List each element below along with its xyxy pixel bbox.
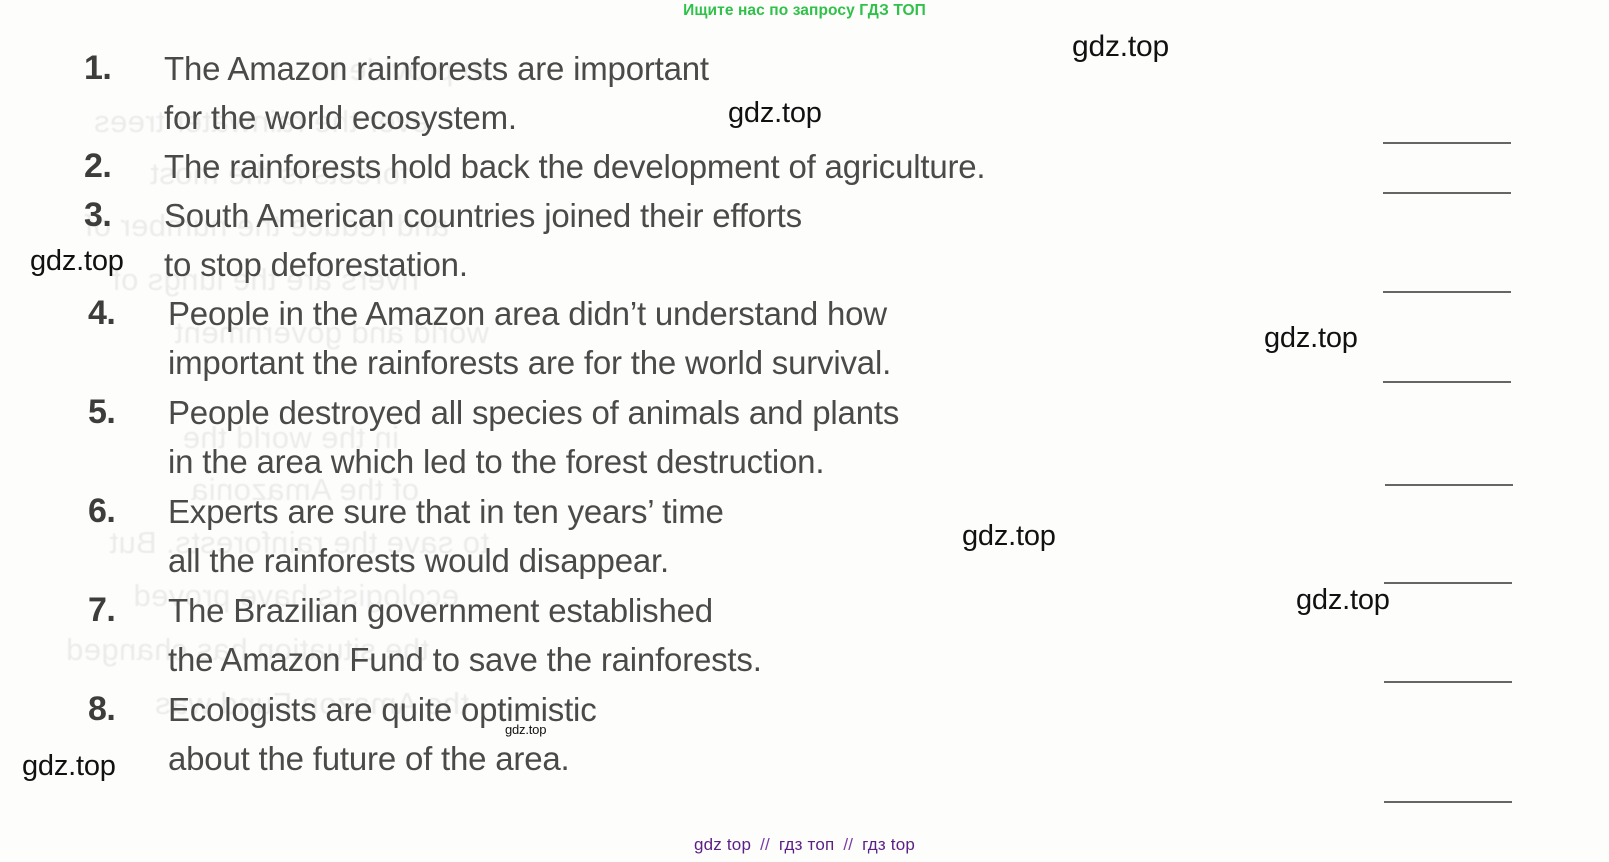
list-item-number: 8.: [76, 685, 168, 734]
bottom-promo-banner: gdz top // гдз топ // гдз top: [0, 835, 1609, 855]
watermark-gdz-top: gdz.top: [1072, 30, 1169, 64]
bottom-banner-separator: //: [839, 835, 857, 854]
list-item-text: The Amazon rainforests are important for…: [164, 44, 709, 142]
watermark-gdz-top: gdz.top: [505, 722, 546, 737]
watermark-gdz-top: gdz.top: [1296, 584, 1390, 617]
list-item-text: The rainforests hold back the developmen…: [164, 142, 985, 191]
top-promo-banner: Ищите нас по запросу ГДЗ ТОП: [0, 2, 1609, 20]
watermark-gdz-top: gdz.top: [1264, 322, 1358, 355]
list-item-number: 7.: [76, 586, 168, 635]
answer-blank-4[interactable]: [1383, 381, 1511, 383]
answer-blank-7[interactable]: [1384, 681, 1512, 683]
list-item-text: People in the Amazon area didn’t underst…: [168, 289, 891, 387]
list-item-text: Experts are sure that in ten years’ time…: [168, 487, 724, 585]
list-item: 4. People in the Amazon area didn’t unde…: [76, 289, 891, 387]
list-item: 1. The Amazon rainforests are important …: [72, 44, 709, 142]
list-item-number: 1.: [72, 44, 164, 93]
answer-blank-5[interactable]: [1385, 484, 1513, 486]
answer-blank-3[interactable]: [1383, 291, 1511, 293]
bottom-banner-separator: //: [756, 835, 774, 854]
list-item-number: 6.: [76, 487, 168, 536]
list-item-number: 3.: [72, 191, 164, 240]
answer-blank-2[interactable]: [1383, 192, 1511, 194]
list-item: 5. People destroyed all species of anima…: [76, 388, 899, 486]
list-item-number: 2.: [72, 142, 164, 191]
list-item: 6. Experts are sure that in ten years’ t…: [76, 487, 724, 585]
bottom-banner-left: gdz top: [694, 835, 751, 854]
watermark-gdz-top: gdz.top: [22, 750, 116, 783]
answer-blank-8[interactable]: [1384, 801, 1512, 803]
watermark-gdz-top: gdz.top: [728, 97, 822, 130]
list-item: 7. The Brazilian government established …: [76, 586, 762, 684]
list-item: 2. The rainforests hold back the develop…: [72, 142, 985, 191]
bottom-banner-right: гдз top: [862, 835, 915, 854]
list-item-number: 5.: [76, 388, 168, 437]
list-item-text: South American countries joined their ef…: [164, 191, 802, 289]
watermark-gdz-top: gdz.top: [962, 520, 1056, 553]
list-item: 3. South American countries joined their…: [72, 191, 802, 289]
watermark-gdz-top: gdz.top: [30, 245, 124, 278]
bottom-banner-middle: гдз топ: [779, 835, 835, 854]
answer-blank-1[interactable]: [1383, 142, 1511, 144]
list-item-text: People destroyed all species of animals …: [168, 388, 899, 486]
scanned-worksheet-page: to provide to ever the rainwater trees f…: [0, 0, 1609, 862]
list-item-text: The Brazilian government established the…: [168, 586, 762, 684]
answer-blank-6[interactable]: [1384, 582, 1512, 584]
list-item-number: 4.: [76, 289, 168, 338]
